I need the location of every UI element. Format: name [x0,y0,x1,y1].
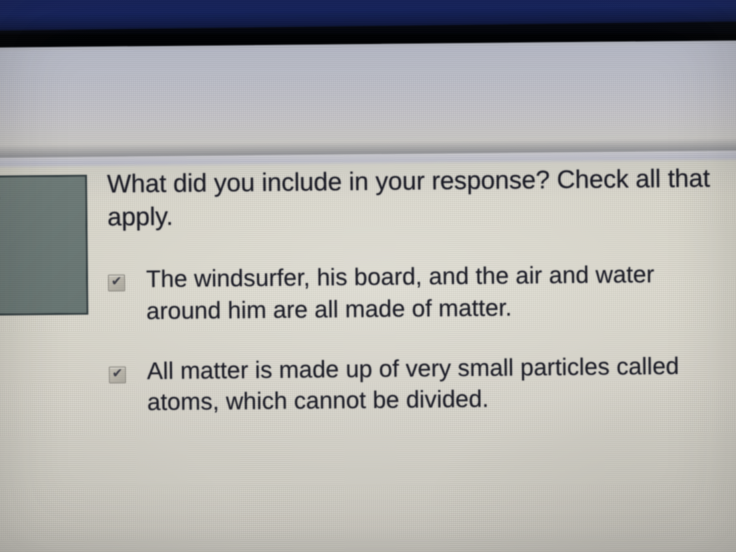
checkmark-icon: ✔ [111,276,122,290]
question-column: What did you include in your response? C… [107,163,722,448]
option-row[interactable]: ✔ All matter is made up of very small pa… [109,350,722,419]
question-prompt: What did you include in your response? C… [107,163,720,235]
option-label: The windsurfer, his board, and the air a… [146,259,721,328]
option-row[interactable]: ✔ The windsurfer, his board, and the air… [108,259,721,328]
checkmark-icon: ✔ [112,367,123,381]
reference-panel-line-1: nd the [0,183,77,215]
page-content: nd the All oms, What did you include in … [0,0,736,552]
checkbox-checked-icon[interactable]: ✔ [108,275,125,292]
reference-panel-line-3: oms, [0,245,78,277]
clipped-reference-panel: nd the All oms, [0,175,88,316]
options-list: ✔ The windsurfer, his board, and the air… [108,259,721,420]
reference-panel-line-2: All [0,214,78,246]
monitor-photograph: nd the All oms, What did you include in … [0,0,736,552]
option-label: All matter is made up of very small part… [147,350,722,419]
checkbox-checked-icon[interactable]: ✔ [109,366,126,383]
